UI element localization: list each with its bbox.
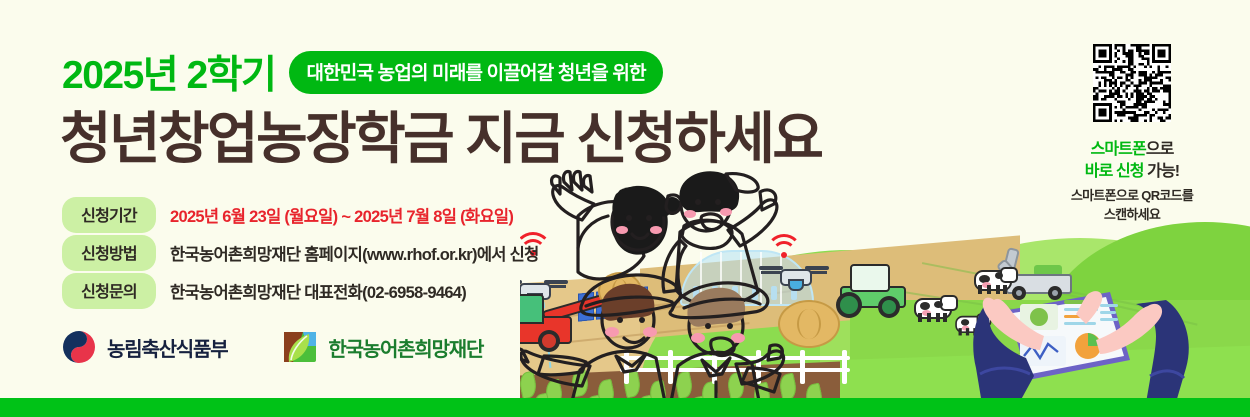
semester-label: 2025년 2학기 bbox=[62, 44, 275, 100]
farmer-green bbox=[663, 171, 777, 306]
logo-row: 농림축산식품부 한국농어촌희망재단 bbox=[62, 330, 483, 364]
qr-headline-suffix2: 가능! bbox=[1144, 163, 1180, 180]
dairy-cow bbox=[910, 294, 954, 322]
info-value-method: 한국농어촌희망재단 홈페이지(www.rhof.or.kr)에서 신청 bbox=[170, 241, 539, 265]
qr-section: 스마트폰으로 바로 신청 가능! 스마트폰으로 QR코드를 스캔하세요 bbox=[1048, 44, 1216, 225]
qr-headline-suffix1: 으로 bbox=[1146, 141, 1174, 158]
page-title: 청년창업농장학금 지금 신청하세요 bbox=[60, 94, 821, 175]
logo-label-rhof: 한국농어촌희망재단 bbox=[328, 333, 483, 362]
qr-subtext-line1: 스마트폰으로 QR코드를 bbox=[1071, 188, 1193, 203]
qr-headline: 스마트폰으로 바로 신청 가능! bbox=[1048, 139, 1216, 182]
promo-banner: 2025년 2학기 대한민국 농업의 미래를 이끌어갈 청년을 위한 청년창업농… bbox=[0, 0, 1250, 417]
qr-subtext-line2: 스캔하세요 bbox=[1104, 207, 1160, 222]
qr-subtext: 스마트폰으로 QR코드를 스캔하세요 bbox=[1048, 187, 1216, 225]
taegeuk-icon bbox=[62, 330, 96, 364]
info-tag-period: 신청기간 bbox=[62, 197, 156, 233]
info-tag-inquiry: 신청문의 bbox=[62, 273, 156, 309]
bottom-accent-bar bbox=[0, 398, 1250, 417]
info-row: 신청방법 한국농어촌희망재단 홈페이지(www.rhof.or.kr)에서 신청 bbox=[62, 234, 562, 272]
info-row: 신청기간 2025년 6월 23일 (월요일) ~ 2025년 7월 8일 (화… bbox=[62, 196, 562, 234]
info-value-period: 2025년 6월 23일 (월요일) ~ 2025년 7월 8일 (화요일) bbox=[170, 203, 513, 227]
logo-mafra: 농림축산식품부 bbox=[62, 330, 227, 364]
leaf-icon bbox=[283, 330, 317, 364]
banner-content: 2025년 2학기 대한민국 농업의 미래를 이끌어갈 청년을 위한 청년창업농… bbox=[0, 0, 560, 417]
young-farmers-illustration bbox=[520, 160, 860, 417]
tagline-badge: 대한민국 농업의 미래를 이끌어갈 청년을 위한 bbox=[289, 51, 662, 94]
logo-rhof: 한국농어촌희망재단 bbox=[283, 330, 483, 364]
qr-headline-part2: 바로 신청 bbox=[1085, 163, 1144, 180]
farmer-pink bbox=[552, 171, 682, 278]
info-list: 신청기간 2025년 6월 23일 (월요일) ~ 2025년 7월 8일 (화… bbox=[62, 196, 562, 310]
info-tag-method: 신청방법 bbox=[62, 235, 156, 271]
info-row: 신청문의 한국농어촌희망재단 대표전화(02-6958-9464) bbox=[62, 272, 562, 310]
logo-label-mafra: 농림축산식품부 bbox=[107, 333, 227, 362]
qr-code-icon[interactable] bbox=[1093, 44, 1171, 122]
hands-holding-tablet bbox=[960, 248, 1200, 417]
farmer-orange bbox=[668, 283, 784, 417]
headline-top-row: 2025년 2학기 대한민국 농업의 미래를 이끌어갈 청년을 위한 bbox=[62, 44, 663, 100]
info-value-inquiry: 한국농어촌희망재단 대표전화(02-6958-9464) bbox=[170, 279, 466, 303]
qr-headline-part1: 스마트폰 bbox=[1091, 141, 1146, 158]
